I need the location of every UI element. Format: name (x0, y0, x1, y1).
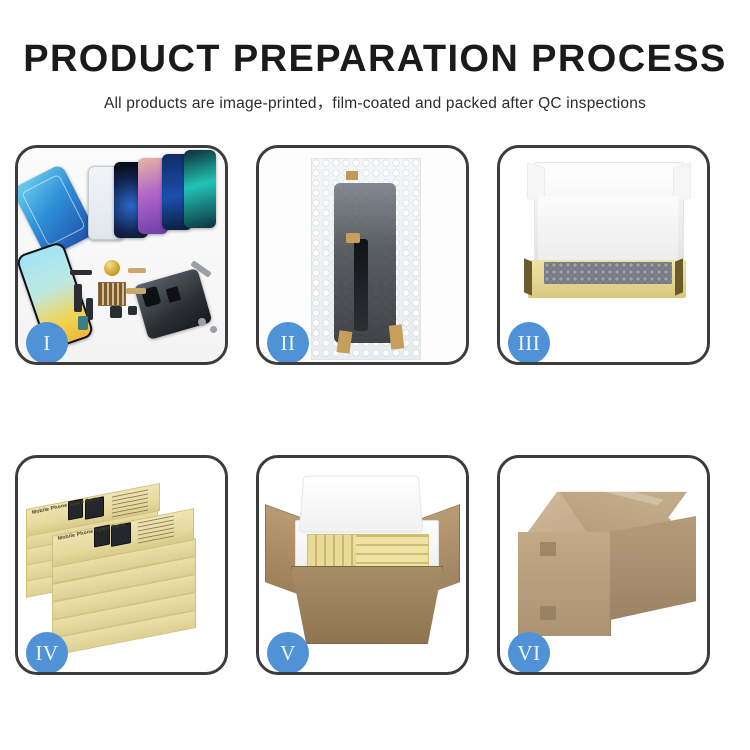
step-badge-2: II (267, 322, 309, 364)
flex-cable-graphic (126, 288, 146, 294)
camera-module-graphic (110, 306, 122, 318)
tape-strip-graphic (389, 324, 404, 349)
chip-grid-graphic (98, 282, 126, 306)
speaker-module-graphic (128, 306, 137, 315)
page-header: PRODUCT PREPARATION PROCESS All products… (0, 0, 750, 113)
process-step-5[interactable]: V (256, 455, 469, 675)
carton-front-face-graphic (518, 532, 611, 636)
vibration-motor-graphic (104, 260, 120, 276)
bubble-wrap-bag-graphic (311, 158, 421, 360)
carton-body-graphic (291, 566, 443, 644)
foam-sheet-graphic (538, 196, 678, 262)
box-corner-left-graphic (524, 258, 532, 295)
step-badge-4: IV (26, 632, 68, 674)
process-step-2[interactable]: II (256, 145, 469, 365)
screw-graphic (198, 318, 206, 326)
foam-cooler-lid-graphic (299, 476, 424, 533)
sim-tray-graphic (78, 316, 88, 330)
phone-back-housing-graphic (134, 268, 213, 340)
process-step-grid: I II III (15, 145, 735, 675)
flex-cable-graphic (70, 270, 92, 275)
step-badge-5: V (267, 632, 309, 674)
step-badge-3: III (508, 322, 550, 364)
tape-strip-graphic (337, 330, 353, 354)
phone-screen-teal-graphic (184, 150, 216, 228)
carton-tape-graphic (540, 542, 556, 556)
process-step-4[interactable]: Mobile Phone Spare Parts Mobile Phone Sp… (15, 455, 228, 675)
screw-graphic (210, 326, 217, 333)
wrapped-cable-graphic (354, 239, 368, 331)
carton-side-face-graphic (610, 516, 696, 620)
tape-strip-graphic (346, 233, 360, 243)
dark-bubble-wrap-graphic (544, 262, 672, 284)
process-step-1[interactable]: I (15, 145, 228, 365)
carton-tape-graphic (540, 606, 556, 620)
step-badge-6: VI (508, 632, 550, 674)
step-badge-1: I (26, 322, 68, 364)
page-subtitle: All products are image-printed，film-coat… (0, 80, 750, 113)
page-title: PRODUCT PREPARATION PROCESS (0, 0, 750, 80)
process-step-3[interactable]: III (497, 145, 710, 365)
flex-cable-graphic (128, 268, 146, 273)
process-step-6[interactable]: VI (497, 455, 710, 675)
box-corner-right-graphic (675, 258, 683, 295)
tape-strip-graphic (346, 171, 358, 180)
flex-cable-graphic (74, 284, 82, 312)
